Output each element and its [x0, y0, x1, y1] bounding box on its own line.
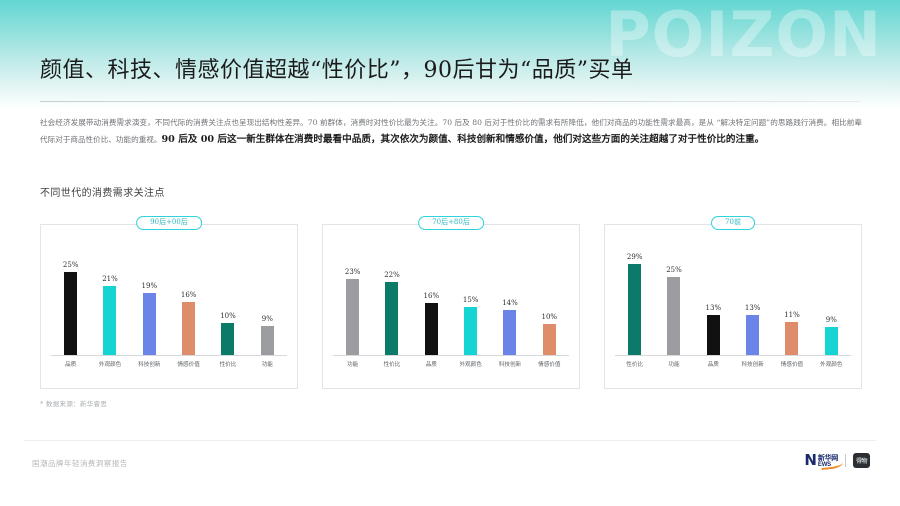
bar-column: 19% [130, 241, 168, 356]
bar-value-label: 16% [181, 292, 197, 299]
slide-root: POIZON 颜值、科技、情感价值超越“性价比”，90后甘为“品质”买单 社会经… [0, 0, 900, 506]
bar-value-label: 13% [745, 305, 761, 312]
bar-value-label: 23% [345, 269, 361, 276]
x-axis-label: 性价比 [616, 363, 654, 369]
bar [628, 264, 641, 356]
x-axis-label: 外观颜色 [812, 363, 850, 369]
bar-value-label: 19% [142, 283, 158, 290]
chart-badge-70-before: 70前 [711, 216, 755, 230]
bar-value-label: 10% [542, 314, 558, 321]
bar-group-70-80: 23% 22% 16% 15% 14% 10% [333, 241, 569, 356]
bar-column: 25% [52, 241, 90, 356]
logo-separator [845, 454, 846, 467]
x-axis-label: 外观颜色 [91, 363, 129, 369]
chart-card-90-00: 90后+00后 25% 21% 19% 16% 10% 9% 品质 外观颜色 科… [40, 224, 298, 389]
bar-column: 23% [334, 241, 372, 356]
footer-logos: N 新华网 EWS 得物 [804, 452, 870, 468]
bar [746, 315, 759, 356]
bar-value-label: 22% [384, 272, 400, 279]
intro-paragraph: 社会经济发展带动消费需求演变，不同代际的消费关注点也呈现出结构性差异。70 前群… [40, 115, 862, 148]
bar-column: 21% [91, 241, 129, 356]
bar-column: 9% [248, 241, 286, 356]
bar-column: 10% [209, 241, 247, 356]
footer-divider [24, 440, 876, 441]
x-axis-label: 品质 [412, 363, 450, 369]
poizon-watermark: POIZON [605, 4, 882, 66]
x-axis-label: 情感价值 [530, 363, 568, 369]
x-axis-label: 功能 [334, 363, 372, 369]
x-axis-label: 科技创新 [491, 363, 529, 369]
bar-column: 16% [170, 241, 208, 356]
x-axis-label: 功能 [248, 363, 286, 369]
bar-value-label: 25% [666, 267, 682, 274]
bar [543, 324, 556, 356]
section-subtitle: 不同世代的消费需求关注点 [40, 184, 165, 199]
chart-badge-90-00: 90后+00后 [136, 216, 202, 230]
chart-card-70-before: 70前 29% 25% 13% 13% 11% 9% 性价比 功能 品质 科技创… [604, 224, 862, 389]
x-axis-label: 品质 [694, 363, 732, 369]
bar-column: 25% [655, 241, 693, 356]
intro-emphasis-text: 90 后及 00 后这一新生群体在消费时最看中品质，其次依次为颜值、科技创新和情… [162, 134, 765, 145]
chart-badge-70-80: 70后+80后 [418, 216, 484, 230]
bar [261, 326, 274, 356]
bar-value-label: 13% [706, 305, 722, 312]
x-axis-label: 科技创新 [130, 363, 168, 369]
bar [825, 327, 838, 356]
chart-plot-70-80: 23% 22% 16% 15% 14% 10% 功能 性价比 品质 外观颜色 科… [333, 241, 569, 380]
x-axis-label: 性价比 [209, 363, 247, 369]
x-axis-labels-70-before: 性价比 功能 品质 科技创新 情感价值 外观颜色 [615, 358, 851, 378]
chart-card-70-80: 70后+80后 23% 22% 16% 15% 14% 10% 功能 性价比 品… [322, 224, 580, 389]
x-axis-label: 科技创新 [734, 363, 772, 369]
bar-column: 10% [530, 241, 568, 356]
xinhua-logo: N 新华网 EWS [804, 452, 838, 468]
title-divider [40, 101, 860, 102]
bar-column: 15% [452, 241, 490, 356]
bar-value-label: 21% [102, 276, 118, 283]
chart-baseline [51, 355, 287, 356]
bar [707, 315, 720, 356]
chart-plot-70-before: 29% 25% 13% 13% 11% 9% 性价比 功能 品质 科技创新 情感… [615, 241, 851, 380]
bar-value-label: 25% [63, 262, 79, 269]
bar [667, 277, 680, 356]
bar-value-label: 15% [463, 297, 479, 304]
bar [64, 272, 77, 356]
poizon-logo: 得物 [853, 453, 870, 468]
bar [785, 322, 798, 357]
chart-plot-90-00: 25% 21% 19% 16% 10% 9% 品质 外观颜色 科技创新 情感价值… [51, 241, 287, 380]
charts-row: 90后+00后 25% 21% 19% 16% 10% 9% 品质 外观颜色 科… [40, 224, 862, 389]
chart-baseline [333, 355, 569, 356]
bar [425, 303, 438, 356]
bar-column: 16% [412, 241, 450, 356]
bar [221, 323, 234, 356]
x-axis-label: 情感价值 [170, 363, 208, 369]
bar-value-label: 9% [262, 316, 273, 323]
bar-value-label: 10% [220, 313, 236, 320]
bar [103, 286, 116, 356]
x-axis-labels-70-80: 功能 性价比 品质 外观颜色 科技创新 情感价值 [333, 358, 569, 378]
bar-value-label: 16% [424, 293, 440, 300]
bar [503, 310, 516, 356]
bar [385, 282, 398, 356]
bar-value-label: 11% [784, 312, 800, 319]
bar-value-label: 29% [627, 254, 643, 261]
x-axis-labels-90-00: 品质 外观颜色 科技创新 情感价值 性价比 功能 [51, 358, 287, 378]
x-axis-label: 功能 [655, 363, 693, 369]
bar-value-label: 9% [826, 317, 837, 324]
bar-column: 14% [491, 241, 529, 356]
bar-column: 13% [734, 241, 772, 356]
bar-column: 22% [373, 241, 411, 356]
bar-column: 9% [812, 241, 850, 356]
page-title: 颜值、科技、情感价值超越“性价比”，90后甘为“品质”买单 [40, 52, 633, 84]
bar-column: 13% [694, 241, 732, 356]
bar [182, 302, 195, 356]
bar [143, 293, 156, 356]
bar [346, 279, 359, 356]
bar-group-70-before: 29% 25% 13% 13% 11% 9% [615, 241, 851, 356]
bar-column: 11% [773, 241, 811, 356]
x-axis-label: 性价比 [373, 363, 411, 369]
bar-group-90-00: 25% 21% 19% 16% 10% 9% [51, 241, 287, 356]
footer-report-title: 国潮品牌年轻消费洞察报告 [32, 458, 128, 469]
xinhua-logo-n: N [804, 453, 817, 468]
x-axis-label: 品质 [52, 363, 90, 369]
swoosh-icon [821, 459, 844, 470]
bar-value-label: 14% [502, 300, 518, 307]
chart-baseline [615, 355, 851, 356]
bar-column: 29% [616, 241, 654, 356]
bar [464, 307, 477, 356]
source-note: * 数据来源：新华睿思 [40, 398, 107, 408]
x-axis-label: 情感价值 [773, 363, 811, 369]
x-axis-label: 外观颜色 [452, 363, 490, 369]
